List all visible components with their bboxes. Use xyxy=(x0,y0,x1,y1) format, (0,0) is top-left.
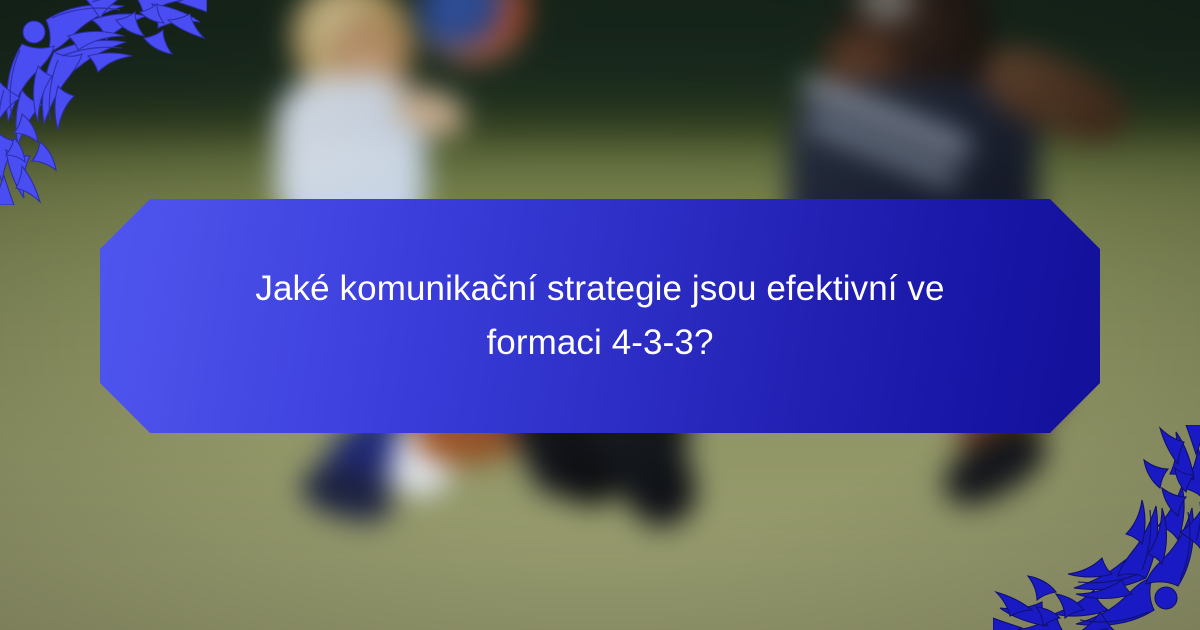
social-card: Jaké komunikační strategie jsou efektivn… xyxy=(0,0,1200,630)
title-banner: Jaké komunikační strategie jsou efektivn… xyxy=(100,199,1100,433)
page-title: Jaké komunikační strategie jsou efektivn… xyxy=(134,262,1066,371)
